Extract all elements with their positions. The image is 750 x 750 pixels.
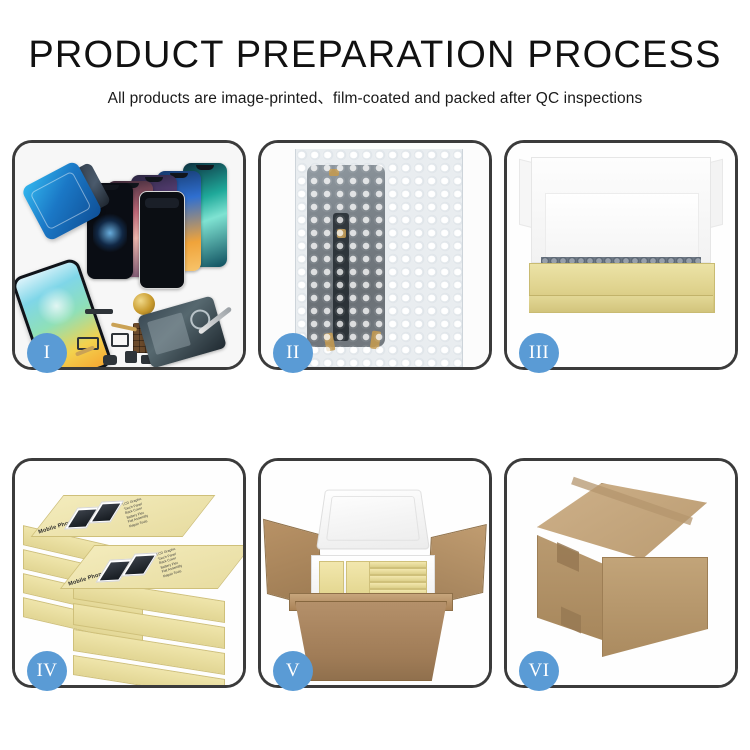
process-grid: I II III — [12, 140, 738, 688]
step-badge-1: I — [27, 333, 67, 373]
connector-part — [85, 309, 113, 314]
phone-screen-fan — [87, 157, 243, 275]
connector-tab-mid — [337, 229, 346, 238]
process-step-1[interactable]: I — [12, 140, 246, 370]
page-title: PRODUCT PREPARATION PROCESS — [0, 36, 750, 76]
process-step-6[interactable]: VI — [504, 458, 738, 688]
button-part — [125, 351, 137, 363]
process-step-5[interactable]: V — [258, 458, 492, 688]
step-badge-3: III — [519, 333, 559, 373]
packed-box-row — [369, 568, 427, 575]
packed-box-row — [369, 561, 427, 568]
step-badge-5: V — [273, 651, 313, 691]
page-header: PRODUCT PREPARATION PROCESS All products… — [0, 0, 750, 108]
step-badge-6: VI — [519, 651, 559, 691]
connector-tab-top — [329, 169, 339, 176]
packed-box — [319, 561, 344, 597]
carton-body — [295, 601, 447, 681]
stack-box-top-front — [60, 545, 243, 589]
packed-box — [346, 561, 371, 597]
process-step-2[interactable]: II — [258, 140, 492, 370]
foam-sheet — [545, 193, 699, 263]
process-step-4[interactable]: Mobile Phone Spare Parts LCD Graphic Tou… — [12, 458, 246, 688]
front-glass-panel — [139, 191, 185, 289]
packed-box-row — [369, 582, 427, 589]
page-subtitle: All products are image-printed、film-coat… — [0, 86, 750, 108]
packed-kraft-boxes-horizontal — [369, 561, 425, 597]
camera-part — [103, 355, 117, 365]
kraft-box-front-fold — [529, 295, 713, 312]
bracket-part — [111, 333, 129, 347]
packed-box-row — [369, 575, 427, 582]
process-step-3[interactable]: III — [504, 140, 738, 370]
step-badge-2: II — [273, 333, 313, 373]
step-badge-4: IV — [27, 651, 67, 691]
foam-box-lid — [316, 490, 430, 550]
